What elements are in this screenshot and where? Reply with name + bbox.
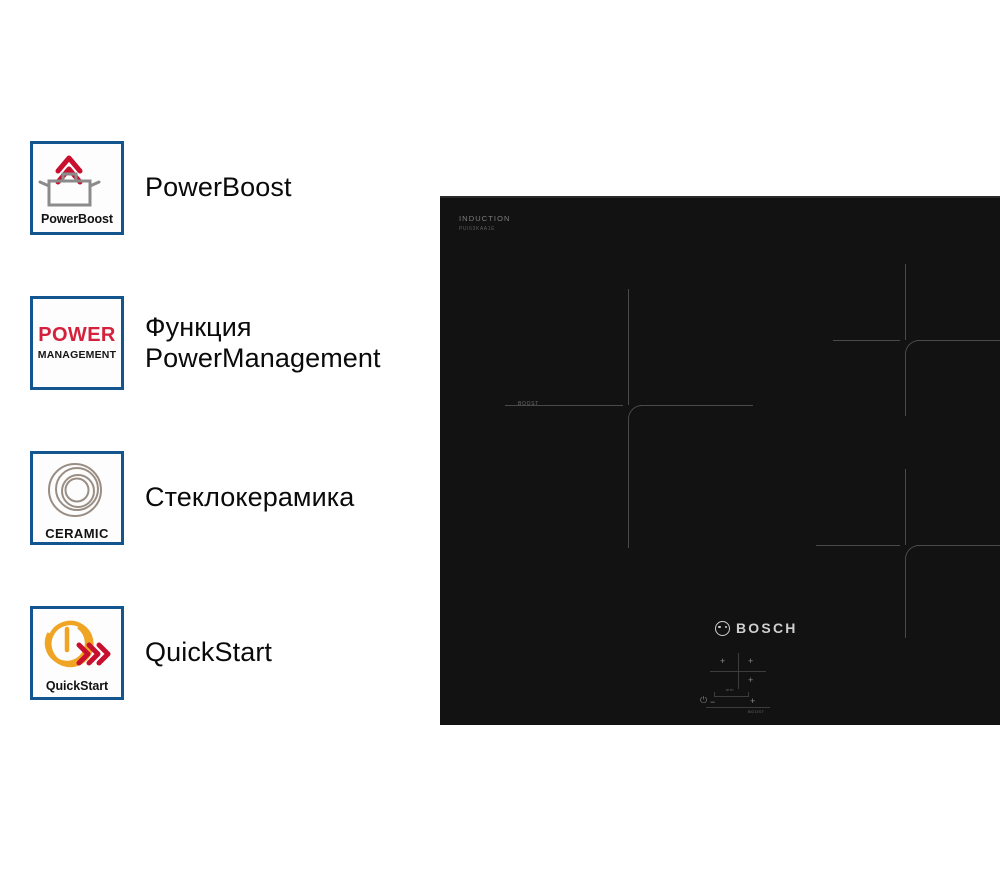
feature-label-ceramic: Стеклокерамика xyxy=(145,482,354,513)
timer-label: min xyxy=(726,687,734,692)
zone-boost-label: BOOST xyxy=(518,401,539,407)
feature-label-powerboost: PowerBoost xyxy=(145,172,292,203)
badge-power-management: POWER MANAGEMENT xyxy=(30,296,124,390)
badge-caption-ceramic: CERAMIC xyxy=(45,527,108,540)
bosch-logo: BOSCH xyxy=(715,620,798,636)
touch-control-panel[interactable]: ⏻ + + + min − + BOOST xyxy=(670,651,800,711)
slider-rule[interactable] xyxy=(706,707,770,708)
cooktop-brand-main: INDUCTION xyxy=(459,215,511,223)
induction-cooktop-image: INDUCTION PUI63KAA1E BOOST BOSCH ⏻ xyxy=(440,196,1000,725)
badge-caption-powerboost: PowerBoost xyxy=(41,213,113,226)
feature-row-ceramic: CERAMIC Стеклокерамика xyxy=(30,450,354,546)
panel-boost-label: BOOST xyxy=(748,709,765,714)
badge-word-management: MANAGEMENT xyxy=(38,350,116,361)
decrease-button[interactable]: − xyxy=(710,698,715,707)
feature-row-power-management: POWER MANAGEMENT Функция PowerManagement xyxy=(30,295,381,391)
feature-row-quickstart: QuickStart QuickStart xyxy=(30,605,272,701)
panel-divider-horizontal xyxy=(710,671,766,672)
badge-powerboost: PowerBoost xyxy=(30,141,124,235)
zone-key-front-right[interactable]: + xyxy=(748,657,753,666)
feature-label-quickstart: QuickStart xyxy=(145,637,272,668)
feature-row-powerboost: PowerBoost PowerBoost xyxy=(30,140,292,236)
cooktop-brand-sub: PUI63KAA1E xyxy=(459,226,511,232)
ceramic-rings-icon xyxy=(48,461,106,519)
zone-key-rear-right[interactable]: + xyxy=(748,676,753,685)
timer-rule xyxy=(714,696,749,697)
powerboost-pot-icon xyxy=(38,149,116,211)
bosch-wordmark: BOSCH xyxy=(736,620,798,636)
badge-caption-quickstart: QuickStart xyxy=(46,680,108,693)
badge-quickstart: QuickStart xyxy=(30,606,124,700)
cooktop-brandmark: INDUCTION PUI63KAA1E xyxy=(459,215,511,232)
increase-button[interactable]: + xyxy=(750,697,755,706)
power-icon: ⏻ xyxy=(700,695,708,706)
zone-key-front-left[interactable]: + xyxy=(720,657,725,666)
feature-label-power-management: Функция PowerManagement xyxy=(145,312,381,375)
badge-word-power: POWER xyxy=(38,325,116,345)
quickstart-power-icon xyxy=(43,617,111,672)
bosch-emblem-icon xyxy=(715,621,730,636)
badge-ceramic: CERAMIC xyxy=(30,451,124,545)
